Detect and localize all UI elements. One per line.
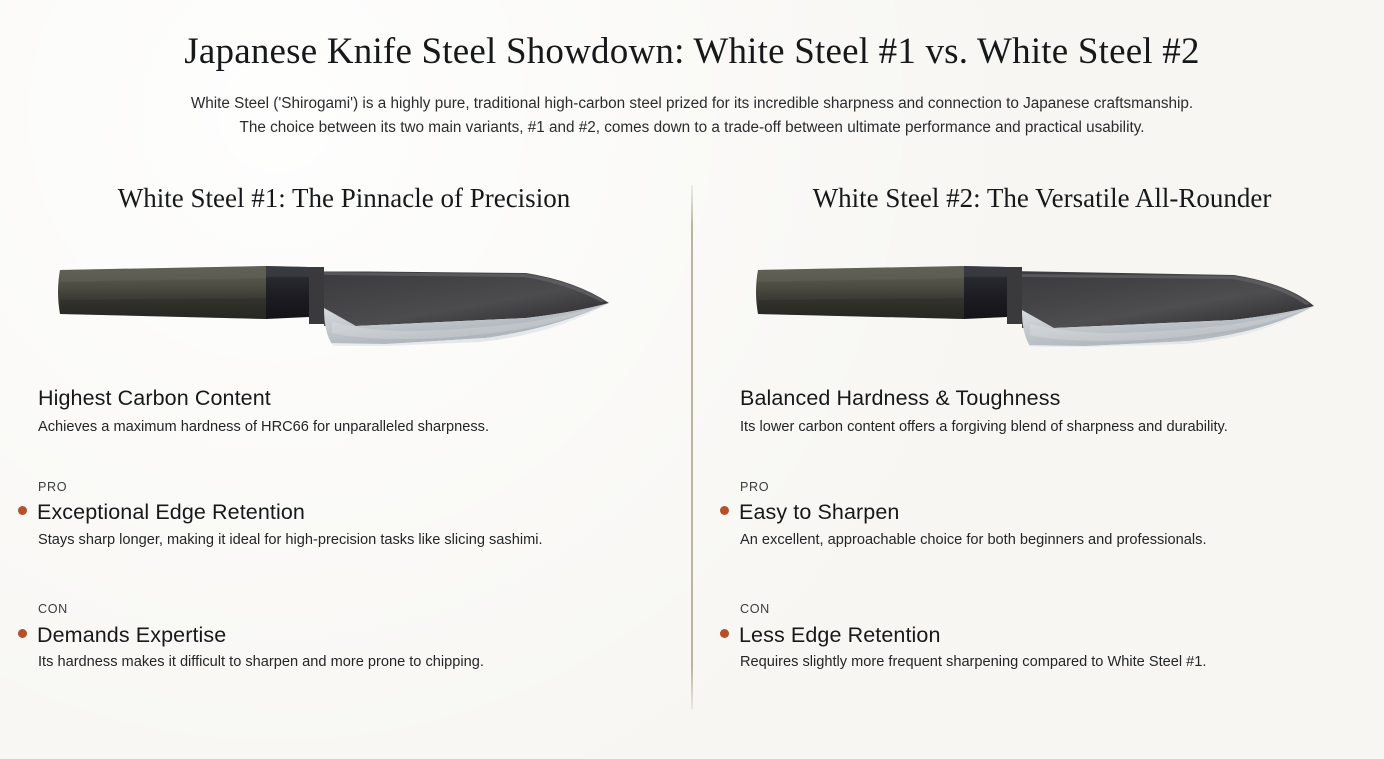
knife-illustration-left — [38, 246, 650, 358]
pro-tag-right: PRO — [740, 480, 1344, 495]
column-white-steel-1: White Steel #1: The Pinnacle of Precisio… — [26, 182, 692, 673]
knife-illustration-right — [740, 246, 1344, 358]
pro-tag-left: PRO — [38, 480, 650, 495]
japanese-knife-wa-gyuto-icon — [56, 256, 632, 348]
pro-description-right: An excellent, approachable choice for bo… — [740, 531, 1344, 551]
con-heading-left: Demands Expertise — [38, 623, 650, 649]
con-block-left: CON Demands Expertise Its hardness makes… — [38, 602, 650, 673]
feature-title-left: Highest Carbon Content — [38, 386, 650, 412]
column-heading-left: White Steel #1: The Pinnacle of Precisio… — [38, 182, 650, 214]
header: Japanese Knife Steel Showdown: White Ste… — [0, 0, 1384, 140]
column-white-steel-2: White Steel #2: The Versatile All-Rounde… — [692, 182, 1358, 673]
con-block-right: CON Less Edge Retention Requires slightl… — [740, 602, 1344, 673]
con-title-right: Less Edge Retention — [739, 623, 941, 649]
feature-block-right: Balanced Hardness & Toughness Its lower … — [740, 386, 1344, 437]
con-description-right: Requires slightly more frequent sharpeni… — [740, 653, 1344, 673]
feature-title-right: Balanced Hardness & Toughness — [740, 386, 1344, 412]
infographic-page: Japanese Knife Steel Showdown: White Ste… — [0, 0, 1384, 759]
pro-description-left: Stays sharp longer, making it ideal for … — [38, 531, 650, 551]
bullet-dot-icon — [18, 506, 27, 515]
column-heading-right: White Steel #2: The Versatile All-Rounde… — [740, 182, 1344, 214]
con-tag-right: CON — [740, 602, 1344, 617]
column-divider — [691, 185, 693, 709]
subtitle-line-2: The choice between its two main variants… — [85, 116, 1300, 140]
japanese-knife-santoku-icon — [754, 256, 1330, 348]
con-heading-right: Less Edge Retention — [740, 623, 1344, 649]
pro-block-left: PRO Exceptional Edge Retention Stays sha… — [38, 480, 650, 551]
page-subtitle: White Steel ('Shirogami') is a highly pu… — [85, 92, 1300, 140]
con-description-left: Its hardness makes it difficult to sharp… — [38, 653, 650, 673]
page-title: Japanese Knife Steel Showdown: White Ste… — [0, 30, 1384, 74]
bullet-dot-icon — [18, 629, 27, 638]
pro-heading-right: Easy to Sharpen — [740, 500, 1344, 526]
comparison-columns: White Steel #1: The Pinnacle of Precisio… — [0, 182, 1384, 673]
pro-title-left: Exceptional Edge Retention — [37, 500, 305, 526]
con-title-left: Demands Expertise — [37, 623, 226, 649]
pro-block-right: PRO Easy to Sharpen An excellent, approa… — [740, 480, 1344, 551]
feature-description-left: Achieves a maximum hardness of HRC66 for… — [38, 418, 650, 438]
pro-heading-left: Exceptional Edge Retention — [38, 500, 650, 526]
pro-title-right: Easy to Sharpen — [739, 500, 899, 526]
feature-block-left: Highest Carbon Content Achieves a maximu… — [38, 386, 650, 437]
feature-description-right: Its lower carbon content offers a forgiv… — [740, 418, 1344, 438]
bullet-dot-icon — [720, 629, 729, 638]
con-tag-left: CON — [38, 602, 650, 617]
bullet-dot-icon — [720, 506, 729, 515]
subtitle-line-1: White Steel ('Shirogami') is a highly pu… — [85, 92, 1300, 116]
